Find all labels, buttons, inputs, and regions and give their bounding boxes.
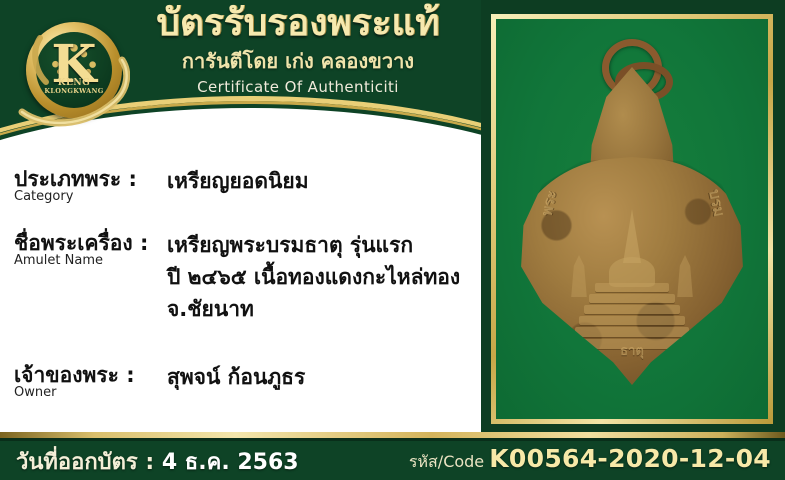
- amulet-inscription-bottom: ธาตุ: [620, 340, 644, 361]
- field-category-label-en: Category: [14, 190, 137, 204]
- field-category-label-th: ประเภทพระ :: [14, 168, 137, 191]
- amulet-main-body: พระ บรม ธาตุ: [514, 157, 750, 385]
- certificate-left-panel: บัตรรับรองพระแท้ การันตีโดย เก่ง คลองขวา…: [0, 0, 481, 480]
- amulet-inscription-right: บรม: [702, 187, 731, 219]
- stupa-tier-1: [595, 283, 669, 292]
- logo-brand-name: KENG KLONGKWANG: [36, 79, 112, 95]
- issue-date-value: 4 ธ.ค. 2563: [162, 450, 299, 475]
- amulet-image: พระ บรม ธาตุ: [512, 37, 752, 397]
- field-amulet-name: ชื่อพระเครื่อง : Amulet Name: [14, 232, 148, 268]
- stupa-spire: [623, 209, 641, 263]
- header-subtitle-english: Certificate Of Authenticiti: [118, 78, 478, 96]
- field-owner-label-th: เจ้าของพระ :: [14, 364, 135, 387]
- white-body-background: [0, 108, 481, 480]
- header-text-block: บัตรรับรองพระแท้ การันตีโดย เก่ง คลองขวา…: [118, 4, 478, 96]
- logo-inner-disc: K KENG KLONGKWANG: [36, 32, 112, 108]
- field-amulet-name-value-line3: จ.ชัยนาท: [167, 296, 254, 323]
- stupa-tier-2: [589, 294, 675, 303]
- amulet-photo-panel: พระ บรม ธาตุ: [481, 0, 785, 432]
- field-owner-label-en: Owner: [14, 386, 135, 400]
- field-owner: เจ้าของพระ : Owner: [14, 364, 135, 400]
- brand-logo: K KENG KLONGKWANG: [18, 16, 130, 134]
- stupa-tier-4: [579, 316, 685, 325]
- field-owner-value: สุพจน์ ก้อนภูธร: [167, 364, 305, 391]
- code-block: รหัส/Code K00564-2020-12-04: [409, 444, 771, 475]
- certificate-card: บัตรรับรองพระแท้ การันตีโดย เก่ง คลองขวา…: [0, 0, 785, 480]
- stupa-tier-5: [575, 327, 689, 337]
- code-value: K00564-2020-12-04: [489, 444, 771, 473]
- field-amulet-name-label-en: Amulet Name: [14, 254, 148, 268]
- stupa-side-left: [566, 255, 592, 297]
- code-label: รหัส/Code: [409, 452, 484, 471]
- field-category: ประเภทพระ : Category: [14, 168, 137, 204]
- page-title: บัตรรับรองพระแท้: [118, 4, 478, 43]
- stupa-side-right: [672, 255, 698, 297]
- certificate-footer: วันที่ออกบัตร : 4 ธ.ค. 2563 รหัส/Code K0…: [0, 432, 785, 480]
- photo-gold-frame: พระ บรม ธาตุ: [491, 14, 773, 424]
- footer-shadow-strip: [0, 438, 785, 441]
- photo-green-background: พระ บรม ธาตุ: [496, 19, 768, 419]
- field-category-value: เหรียญยอดนิยม: [167, 168, 309, 195]
- field-amulet-name-label-th: ชื่อพระเครื่อง :: [14, 232, 148, 255]
- amulet-inscription-left: พระ: [535, 188, 564, 218]
- header-subtitle-thai: การันตีโดย เก่ง คลองขวาง: [118, 45, 478, 77]
- issue-date-block: วันที่ออกบัตร : 4 ธ.ค. 2563: [16, 444, 299, 479]
- issue-date-label: วันที่ออกบัตร :: [16, 450, 154, 475]
- field-amulet-name-value-line1: เหรียญพระบรมธาตุ รุ่นแรก: [167, 232, 413, 259]
- logo-brand-name-line2: KLONGKWANG: [36, 88, 112, 95]
- stupa-tier-3: [584, 305, 680, 314]
- field-amulet-name-value-line2: ปี ๒๔๖๕ เนื้อทองแดงกะไหล่ทอง: [167, 264, 460, 291]
